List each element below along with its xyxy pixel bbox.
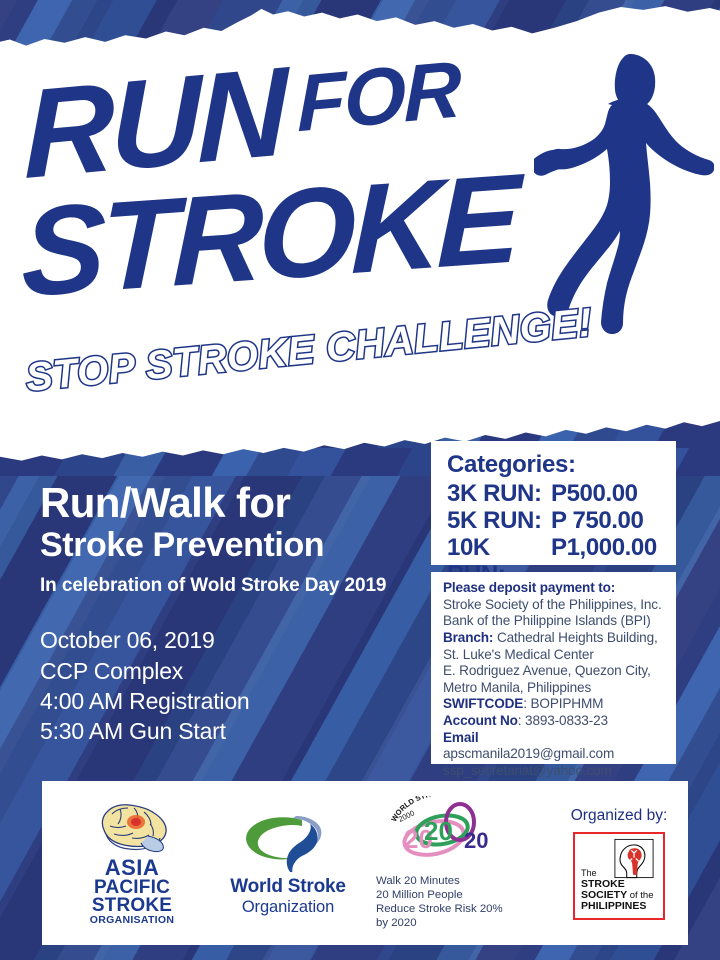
payment-email-2: ssp_secretariat@yahoo.com [443, 763, 670, 780]
category-price: P500.00 [551, 480, 638, 507]
payment-account-label: Account No [443, 713, 518, 728]
event-date: October 06, 2019 [40, 625, 420, 655]
payment-details-box: Please deposit payment to: Stroke Societ… [431, 572, 676, 764]
wso-logo: World Stroke Organization [208, 810, 368, 917]
categories-title: Categories: [447, 451, 676, 479]
category-price: P 750.00 [551, 507, 643, 534]
payment-branch-label: Branch: [443, 630, 493, 645]
event-gun-start-time: 5:30 AM Gun Start [40, 716, 420, 746]
ssp-line-3a: SOCIETY [581, 889, 627, 901]
wso-line-2: Organization [230, 898, 346, 917]
payment-swift-label: SWIFTCODE [443, 696, 523, 711]
apso-line-4: ORGANISATION [90, 916, 175, 926]
event-details: October 06, 2019 CCP Complex 4:00 AM Reg… [40, 625, 420, 746]
apso-line-1: ASIA [90, 858, 175, 879]
sponsor-footer: ASIA PACIFIC STROKE ORGANISATION World S… [42, 781, 688, 945]
headline-for-text: FOR [297, 43, 460, 150]
payment-bank: Bank of the Philippine Islands (BPI) [443, 613, 670, 630]
wsd-tagline: Walk 20 Minutes 20 Million People Reduce… [368, 874, 503, 931]
ssp-line-4: PHILIPPINES [581, 901, 654, 912]
category-label: 5K RUN: [447, 507, 551, 534]
payment-address-2: Metro Manila, Philippines [443, 680, 670, 697]
wsd-tagline-3: Reduce Stroke Risk 20% [376, 902, 503, 916]
apso-logo: ASIA PACIFIC STROKE ORGANISATION [56, 800, 208, 926]
payment-email-label-text: Email [443, 730, 479, 745]
payment-swift: SWIFTCODE: BOPIPHMM [443, 696, 670, 713]
event-title-line-2: Stroke Prevention [40, 527, 420, 564]
apso-line-3: STROKE [90, 897, 175, 915]
wso-wordmark: World Stroke Organization [230, 876, 346, 917]
poster-canvas: RUNFOR STROKE STOP STROKE CHALLENGE! Run… [0, 0, 720, 960]
payment-account: Account No: 3893-0833-23 [443, 713, 670, 730]
category-label: 3K RUN: [447, 480, 551, 507]
ssp-wordmark: The STROKE SOCIETY of the PHILIPPINES [581, 869, 654, 913]
payment-email-label: Email [443, 730, 670, 747]
world-stroke-day-logo: WORLD STROKE DAY 2000 20 20 20 Walk 20 M… [368, 796, 544, 931]
ssp-logo: The STROKE SOCIETY of the PHILIPPINES [573, 832, 665, 920]
event-celebration-line: In celebration of Wold Stroke Day 2019 [40, 575, 420, 597]
wsd-tagline-4: by 2020 [376, 916, 503, 930]
brain-icon [90, 800, 174, 856]
headline-stroke-text: STROKE [21, 159, 517, 312]
svg-text:20: 20 [424, 816, 453, 846]
event-info-block: Run/Walk for Stroke Prevention In celebr… [40, 482, 420, 747]
headline-line-2: STROKE [18, 160, 520, 313]
event-venue: CCP Complex [40, 656, 420, 686]
apso-wordmark: ASIA PACIFIC STROKE ORGANISATION [90, 858, 175, 926]
category-row: 5K RUN: P 750.00 [447, 507, 676, 534]
wsd-2020-icon: WORLD STROKE DAY 2000 20 20 20 [386, 796, 526, 870]
wso-line-1: World Stroke [230, 876, 346, 898]
payment-heading: Please deposit payment to: [443, 580, 670, 597]
payment-email-1: apscmanila2019@gmail.com [443, 746, 670, 763]
category-row: 3K RUN: P500.00 [447, 480, 676, 507]
payment-account-value: : 3893-0833-23 [518, 713, 608, 728]
payment-heading-text: Please deposit payment to: [443, 580, 615, 595]
wsd-tagline-2: 20 Million People [376, 888, 503, 902]
payment-swift-value: : BOPIPHMM [523, 696, 603, 711]
categories-box: Categories: 3K RUN: P500.00 5K RUN: P 75… [431, 441, 676, 565]
wsd-tagline-1: Walk 20 Minutes [376, 874, 503, 888]
payment-address-1: E. Rodriguez Avenue, Quezon City, [443, 663, 670, 680]
payment-org: Stroke Society of the Philippines, Inc. [443, 597, 670, 614]
organizer-block: Organized by: The STROKE SOCIETY of the … [544, 807, 694, 920]
organized-by-label: Organized by: [571, 807, 668, 825]
event-title-line-1: Run/Walk for [40, 482, 420, 525]
payment-branch: Branch: Cathedral Heights Building, [443, 630, 670, 647]
svg-text:20: 20 [464, 828, 488, 853]
payment-branch-line2: St. Luke's Medical Center [443, 647, 670, 664]
payment-branch-value: Cathedral Heights Building, [497, 630, 658, 645]
event-registration-time: 4:00 AM Registration [40, 686, 420, 716]
wso-swoosh-icon [238, 810, 338, 872]
